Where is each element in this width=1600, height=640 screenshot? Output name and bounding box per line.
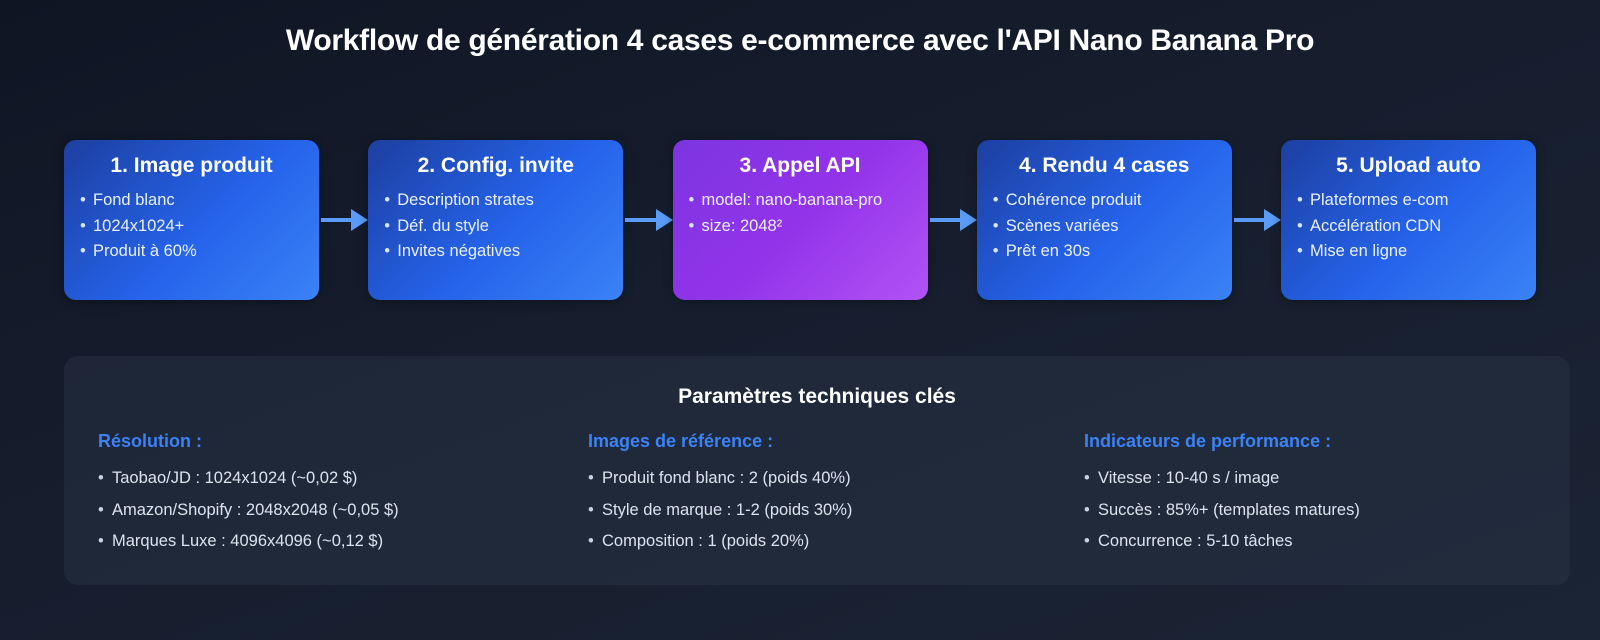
workflow-step-item: Plateformes e-com [1297, 189, 1520, 212]
param-list: Vitesse : 10-40 s / imageSuccès : 85%+ (… [1084, 463, 1512, 558]
workflow-step-2[interactable]: 2. Config. inviteDescription stratesDéf.… [368, 140, 623, 300]
params-panel-title: Paramètres techniques clés [64, 356, 1570, 409]
param-list-item: Composition : 1 (poids 20%) [588, 526, 1016, 558]
workflow-step-title: 3. Appel API [689, 154, 912, 177]
workflow-step-item: size: 2048² [689, 215, 912, 238]
workflow-step-item: Description strates [384, 189, 607, 212]
param-list-item: Vitesse : 10-40 s / image [1084, 463, 1512, 495]
param-list-item: Marques Luxe : 4096x4096 (~0,12 $) [98, 526, 526, 558]
params-columns: Résolution :Taobao/JD : 1024x1024 (~0,02… [64, 409, 1570, 558]
workflow-step-item: Prêt en 30s [993, 240, 1216, 263]
workflow-step-item: Mise en ligne [1297, 240, 1520, 263]
param-list-item: Style de marque : 1-2 (poids 30%) [588, 495, 1016, 527]
workflow-step-title: 1. Image produit [80, 154, 303, 177]
arrow-head-icon [656, 209, 673, 231]
param-list: Produit fond blanc : 2 (poids 40%)Style … [588, 463, 1016, 558]
workflow-step-5[interactable]: 5. Upload autoPlateformes e-comAccélérat… [1281, 140, 1536, 300]
arrow-connector-4 [1232, 140, 1281, 300]
param-column-1: Résolution :Taobao/JD : 1024x1024 (~0,02… [98, 431, 550, 558]
param-column-heading: Images de référence : [588, 431, 1016, 452]
arrow-line-icon [625, 218, 655, 222]
workflow-step-4[interactable]: 4. Rendu 4 casesCohérence produitScènes … [977, 140, 1232, 300]
arrow-line-icon [930, 218, 960, 222]
workflow-step-1[interactable]: 1. Image produitFond blanc1024x1024+Prod… [64, 140, 319, 300]
workflow-step-item: Fond blanc [80, 189, 303, 212]
workflow-step-title: 5. Upload auto [1297, 154, 1520, 177]
param-list: Taobao/JD : 1024x1024 (~0,02 $)Amazon/Sh… [98, 463, 526, 558]
arrow-connector-2 [623, 140, 672, 300]
workflow-step-list: Fond blanc1024x1024+Produit à 60% [80, 189, 303, 265]
arrow-connector-3 [928, 140, 977, 300]
param-column-3: Indicateurs de performance :Vitesse : 10… [1040, 431, 1536, 558]
param-list-item: Taobao/JD : 1024x1024 (~0,02 $) [98, 463, 526, 495]
workflow-step-item: Scènes variées [993, 215, 1216, 238]
arrow-head-icon [1264, 209, 1281, 231]
workflow-step-list: Description stratesDéf. du styleInvites … [384, 189, 607, 265]
workflow-step-item: model: nano-banana-pro [689, 189, 912, 212]
arrow-head-icon [960, 209, 977, 231]
param-column-heading: Résolution : [98, 431, 526, 452]
workflow-step-title: 4. Rendu 4 cases [993, 154, 1216, 177]
arrow-line-icon [1234, 218, 1264, 222]
workflow-step-list: model: nano-banana-prosize: 2048² [689, 189, 912, 240]
workflow-step-item: Accélération CDN [1297, 215, 1520, 238]
workflow-step-list: Cohérence produitScènes variéesPrêt en 3… [993, 189, 1216, 265]
page-title: Workflow de génération 4 cases e-commerc… [0, 0, 1600, 58]
arrow-connector-1 [319, 140, 368, 300]
param-column-2: Images de référence :Produit fond blanc … [550, 431, 1040, 558]
param-list-item: Succès : 85%+ (templates matures) [1084, 495, 1512, 527]
param-list-item: Concurrence : 5-10 tâches [1084, 526, 1512, 558]
workflow-step-title: 2. Config. invite [384, 154, 607, 177]
workflow-diagram: 1. Image produitFond blanc1024x1024+Prod… [64, 140, 1536, 300]
workflow-step-item: Produit à 60% [80, 240, 303, 263]
technical-parameters-panel: Paramètres techniques clés Résolution :T… [64, 356, 1570, 585]
param-column-heading: Indicateurs de performance : [1084, 431, 1512, 452]
workflow-step-item: Déf. du style [384, 215, 607, 238]
workflow-step-item: Invites négatives [384, 240, 607, 263]
param-list-item: Amazon/Shopify : 2048x2048 (~0,05 $) [98, 495, 526, 527]
param-list-item: Produit fond blanc : 2 (poids 40%) [588, 463, 1016, 495]
arrow-line-icon [321, 218, 351, 222]
workflow-step-item: 1024x1024+ [80, 215, 303, 238]
workflow-step-item: Cohérence produit [993, 189, 1216, 212]
workflow-step-list: Plateformes e-comAccélération CDNMise en… [1297, 189, 1520, 265]
arrow-head-icon [351, 209, 368, 231]
workflow-step-3[interactable]: 3. Appel APImodel: nano-banana-prosize: … [673, 140, 928, 300]
